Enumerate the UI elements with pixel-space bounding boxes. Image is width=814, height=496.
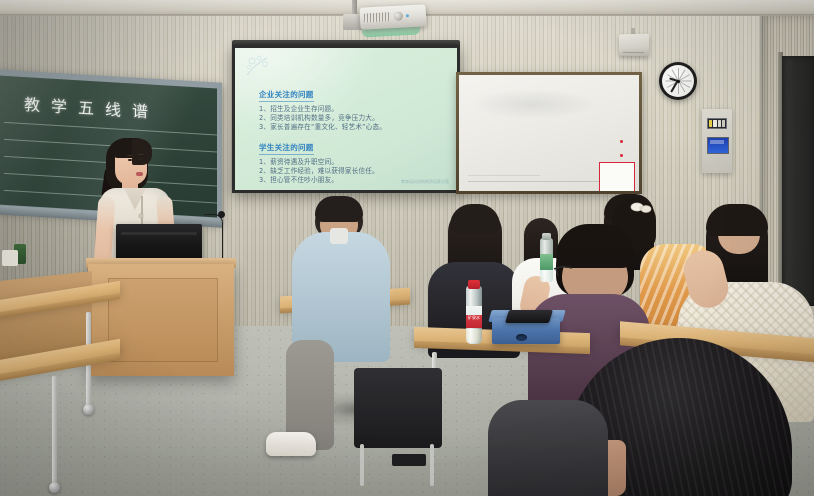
projection-screen: 企业关注的问题 1、招生及企业生存问题。 2、同类培训机构数量多，竞争压力大。 … (235, 48, 457, 190)
classroom-scene: 教学五线谱 企业关注的问题 1、招生及企业生存问题。 2、同类培训机 (0, 0, 814, 496)
whiteboard-faint-writing (468, 175, 540, 176)
bottle-label: 矿泉水 (466, 306, 482, 328)
slide-item: 2、缺乏工作经验，难以获得家长信任。 (259, 167, 447, 176)
bottle-cap-secondary[interactable] (542, 233, 551, 240)
speaker-grille-line (623, 52, 644, 53)
cup (2, 250, 18, 266)
smartphone[interactable] (505, 310, 553, 323)
classroom-door[interactable] (782, 56, 814, 306)
clock-center-pin (677, 80, 680, 83)
whiteboard-red-mark (620, 140, 623, 143)
head-hair-top (315, 196, 363, 222)
projector-power-led (406, 14, 409, 17)
podium-front-panel (108, 278, 218, 362)
sneaker (266, 432, 316, 456)
whiteboard-smudge (470, 89, 596, 119)
hair-clip-icon (628, 200, 654, 218)
panel-switch-row[interactable] (707, 118, 727, 129)
wall-clock (659, 62, 697, 100)
clock-face (662, 65, 694, 97)
slide-item: 2、同类培训机构数量多，竞争压力大。 (259, 114, 447, 123)
slide-item: 3、家长普遍存在“重文化、轻艺术”心态。 (259, 123, 447, 132)
wall-speaker (619, 34, 649, 57)
slide-item: 1、招生及企业生存问题。 (259, 105, 447, 114)
chair-label (392, 454, 426, 466)
microphone-head (218, 211, 225, 218)
hair-crown (450, 204, 500, 234)
chair-back[interactable] (354, 368, 442, 448)
slide-item: 1、薪资待遇及升职空间。 (259, 158, 447, 167)
whiteboard-faint-writing (468, 181, 601, 182)
slide-decoration-icon (243, 53, 287, 83)
slide-content: 企业关注的问题 1、招生及企业生存问题。 2、同类培训机构数量多，竞争压力大。 … (259, 84, 447, 185)
shirt-collar (330, 228, 348, 244)
whiteboard-frame (456, 72, 642, 194)
hair-crown (706, 204, 768, 236)
microphone-gooseneck (204, 214, 223, 263)
wall-control-panel[interactable] (702, 109, 732, 173)
bottle-cap[interactable] (468, 280, 480, 289)
whiteboard-red-notice (599, 162, 635, 191)
projector-vent (364, 12, 390, 22)
slide-heading-student: 学生关注的问题 (259, 142, 314, 155)
presenter-mouth (136, 172, 143, 176)
document-box-finger-hole (516, 334, 527, 341)
ceiling-projector (359, 4, 426, 29)
presenter-hair-sweep (132, 139, 152, 165)
panel-display (707, 137, 729, 154)
slide-footer: 教育培训机构师资培养方案 (401, 179, 449, 185)
eyeglasses-icon (552, 262, 594, 282)
whiteboard-red-mark (620, 154, 623, 157)
whiteboard (459, 75, 639, 191)
projection-screen-frame: 企业关注的问题 1、招生及企业生存问题。 2、同类培训机构数量多，竞争压力大。 … (232, 45, 460, 193)
slide-heading-enterprise: 企业关注的问题 (259, 89, 314, 102)
foreground-shoulder (488, 400, 608, 496)
projector-focus-knob[interactable] (394, 11, 403, 20)
bottle-label-secondary (540, 254, 553, 270)
